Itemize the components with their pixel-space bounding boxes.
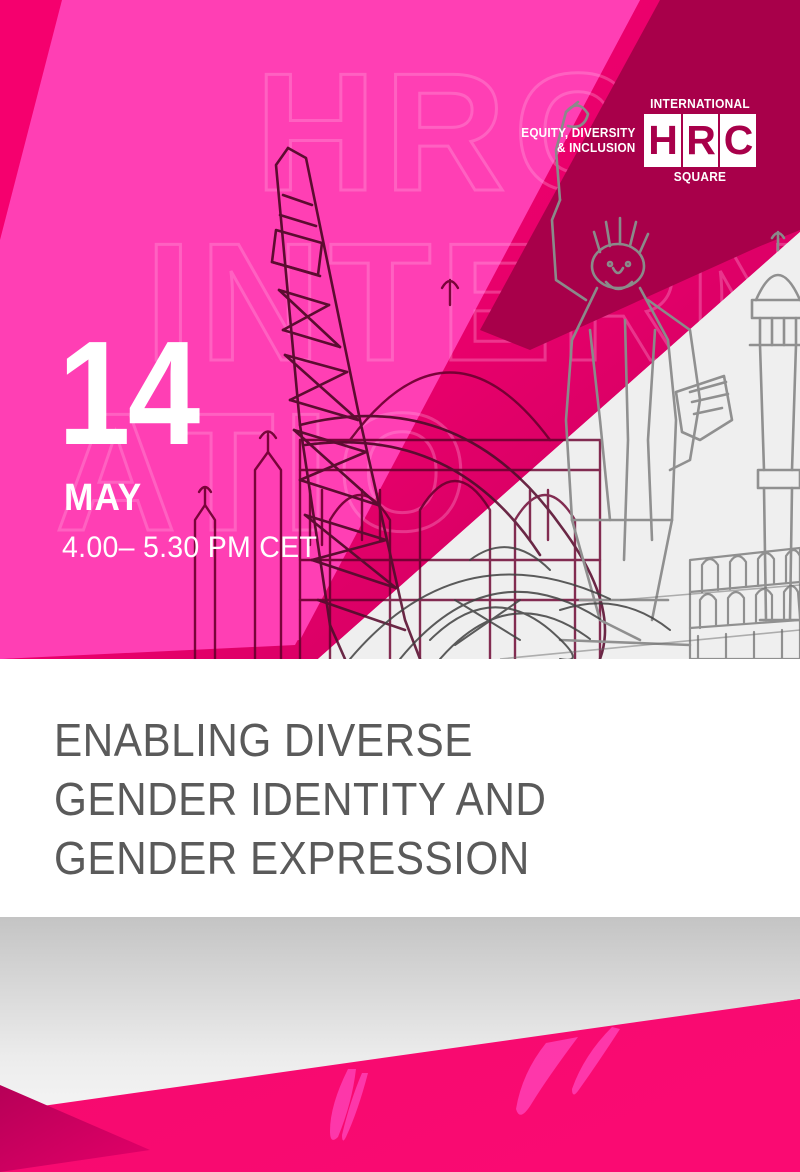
logo-letter-boxes: H R C: [644, 114, 756, 167]
logo-tagline: EQUITY, DIVERSITY & INCLUSION: [521, 126, 635, 156]
tagline-line-2: & INCLUSION: [521, 141, 635, 156]
title-section: ENABLING DIVERSE GENDER IDENTITY AND GEN…: [0, 659, 800, 917]
event-day: 14: [58, 330, 298, 457]
hrc-logo: INTERNATIONAL H R C SQUARE: [644, 98, 756, 183]
footer-banner: [0, 917, 800, 1172]
logo-square-label: SQUARE: [647, 171, 753, 184]
event-time: 4.00– 5.30 PM CET: [62, 533, 317, 563]
hrc-logo-lockup: EQUITY, DIVERSITY & INCLUSION INTERNATIO…: [514, 98, 756, 183]
page-title: ENABLING DIVERSE GENDER IDENTITY AND GEN…: [54, 711, 661, 888]
hero-banner: HRC INTERN ATIO: [0, 0, 800, 659]
logo-international-label: INTERNATIONAL: [647, 98, 753, 111]
event-poster: HRC INTERN ATIO: [0, 0, 800, 1172]
tagline-line-1: EQUITY, DIVERSITY: [521, 126, 635, 141]
logo-letter-c: C: [720, 114, 756, 167]
event-date-block: 14 MAY 4.00– 5.30 PM CET: [58, 330, 331, 563]
logo-letter-h: H: [644, 114, 681, 167]
footer-graphic: [0, 917, 800, 1172]
event-month: MAY: [64, 479, 312, 517]
logo-letter-r: R: [683, 114, 718, 167]
